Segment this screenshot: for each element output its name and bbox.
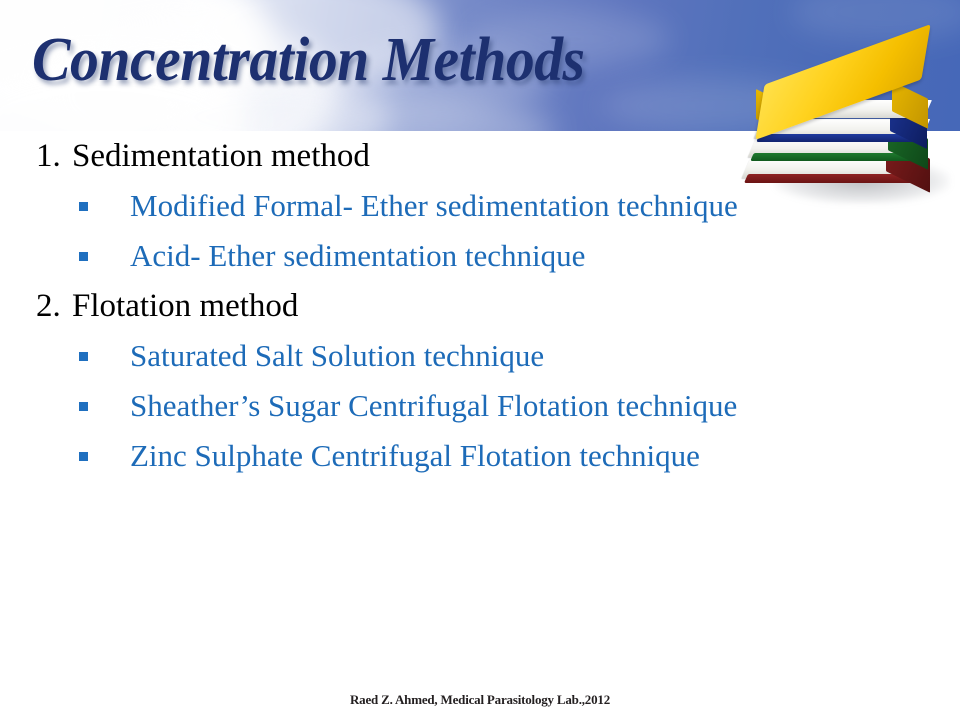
list-item-numbered: 2. Flotation method bbox=[0, 281, 960, 331]
list-item-numbered: 1. Sedimentation method bbox=[0, 131, 960, 181]
cloud-shape bbox=[255, 100, 555, 131]
slide-footer: Raed Z. Ahmed, Medical Parasitology Lab.… bbox=[0, 692, 960, 708]
list-item-bullet: Acid- Ether sedimentation technique bbox=[0, 231, 960, 281]
slide: Concentration Methods 1. Sedimentation m… bbox=[0, 0, 960, 720]
item-number: 2. bbox=[36, 281, 61, 331]
bullet-label: Modified Formal- Ether sedimentation tec… bbox=[130, 188, 738, 223]
method-list: 1. Sedimentation method Modified Formal-… bbox=[0, 131, 960, 481]
list-item-bullet: Modified Formal- Ether sedimentation tec… bbox=[0, 181, 960, 231]
sub-list: Modified Formal- Ether sedimentation tec… bbox=[0, 181, 960, 281]
slide-title: Concentration Methods bbox=[32, 28, 585, 93]
square-bullet-icon bbox=[79, 452, 88, 461]
bullet-label: Zinc Sulphate Centrifugal Flotation tech… bbox=[130, 438, 700, 473]
square-bullet-icon bbox=[79, 252, 88, 261]
bullet-label: Saturated Salt Solution technique bbox=[130, 338, 544, 373]
bullet-label: Sheather’s Sugar Centrifugal Flotation t… bbox=[130, 388, 737, 423]
sub-list: Saturated Salt Solution technique Sheath… bbox=[0, 331, 960, 481]
square-bullet-icon bbox=[79, 202, 88, 211]
item-number: 1. bbox=[36, 131, 61, 181]
item-label: Sedimentation method bbox=[72, 131, 370, 181]
item-label: Flotation method bbox=[72, 281, 298, 331]
list-item-bullet: Zinc Sulphate Centrifugal Flotation tech… bbox=[0, 431, 960, 481]
cloud-shape bbox=[790, 0, 960, 42]
bullet-label: Acid- Ether sedimentation technique bbox=[130, 238, 585, 273]
square-bullet-icon bbox=[79, 402, 88, 411]
slide-body: 1. Sedimentation method Modified Formal-… bbox=[0, 131, 960, 481]
square-bullet-icon bbox=[79, 352, 88, 361]
list-item-bullet: Saturated Salt Solution technique bbox=[0, 331, 960, 381]
list-item-bullet: Sheather’s Sugar Centrifugal Flotation t… bbox=[0, 381, 960, 431]
